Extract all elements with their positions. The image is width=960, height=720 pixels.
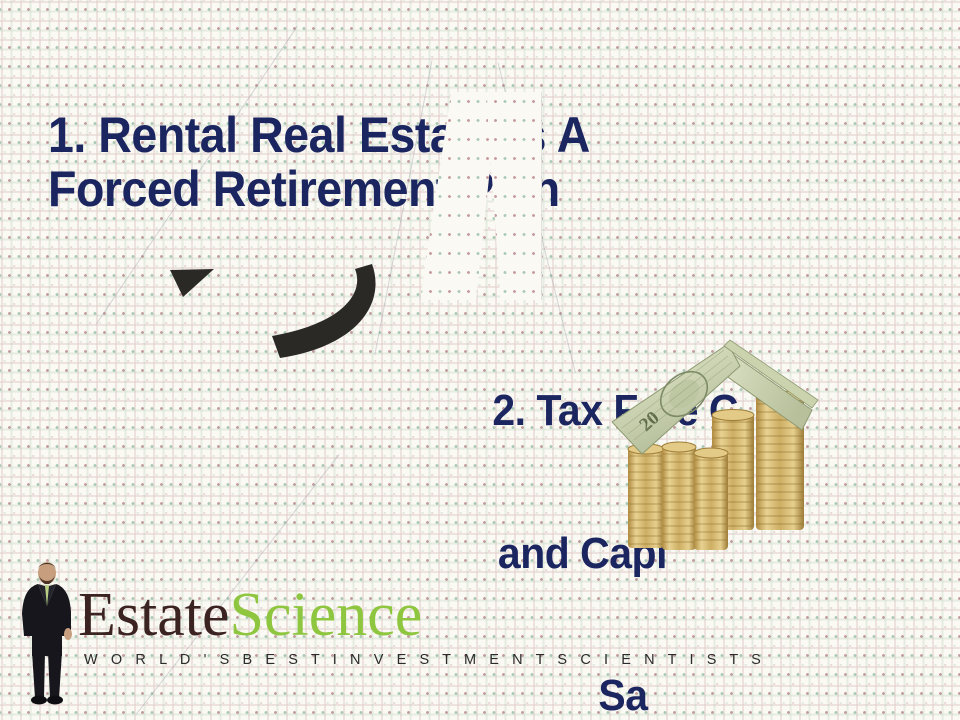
logo-wordmark: EstateScience (78, 584, 464, 646)
arc-swoosh-icon (255, 262, 395, 367)
logo-word-estate: Estate (78, 581, 230, 649)
logo-word-science: Science (230, 581, 423, 649)
logo-tagline: W O R L D ' S B E S T I N V E S T M E N … (84, 652, 464, 668)
money-house-image: 20 (606, 336, 834, 564)
triangle-fragment-icon (169, 268, 215, 298)
slide-canvas: 1. Rental Real Estate Is A Forced Retire… (0, 0, 960, 720)
heading-point-one: 1. Rental Real Estate Is A Forced Retire… (48, 108, 606, 216)
heading-two-line-three: Sa (485, 672, 922, 720)
businessman-figure-icon (14, 560, 80, 706)
brand-logo[interactable]: EstateScience W O R L D ' S B E S T I N … (14, 556, 464, 706)
